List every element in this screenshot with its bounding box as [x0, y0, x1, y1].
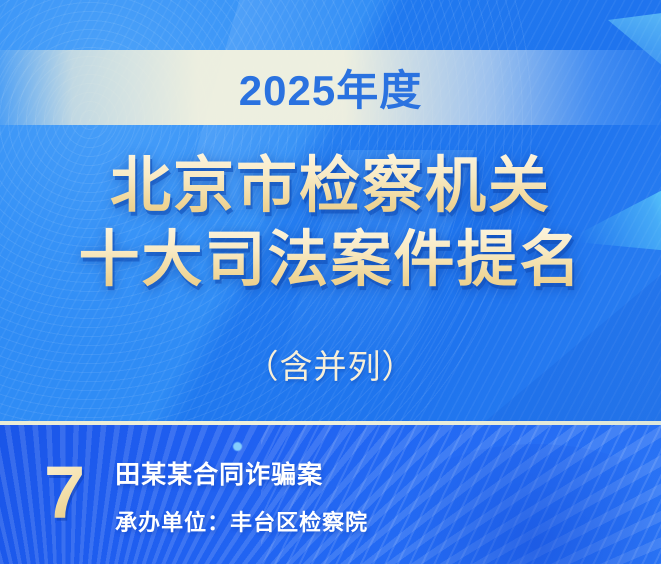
poster-root: 2025年度 北京市检察机关 十大司法案件提名 （含并列） 7 田某某合同诈骗案… — [0, 0, 661, 564]
main-title-line-2: 十大司法案件提名 — [0, 222, 661, 296]
subtitle-text: （含并列） — [0, 340, 661, 388]
main-title: 北京市检察机关 十大司法案件提名 — [0, 148, 661, 296]
case-title-text: 田某某合同诈骗案 — [115, 455, 368, 491]
case-row[interactable]: 7 田某某合同诈骗案 承办单位：丰台区检察院 — [0, 425, 661, 564]
main-title-line-1: 北京市检察机关 — [0, 148, 661, 222]
case-section: 7 田某某合同诈骗案 承办单位：丰台区检察院 — [0, 425, 661, 564]
case-text-block: 田某某合同诈骗案 承办单位：丰台区检察院 — [115, 453, 368, 537]
case-unit-text: 承办单位：丰台区检察院 — [115, 505, 368, 537]
year-badge-text: 2025年度 — [0, 50, 661, 125]
case-rank-number: 7 — [44, 456, 85, 534]
